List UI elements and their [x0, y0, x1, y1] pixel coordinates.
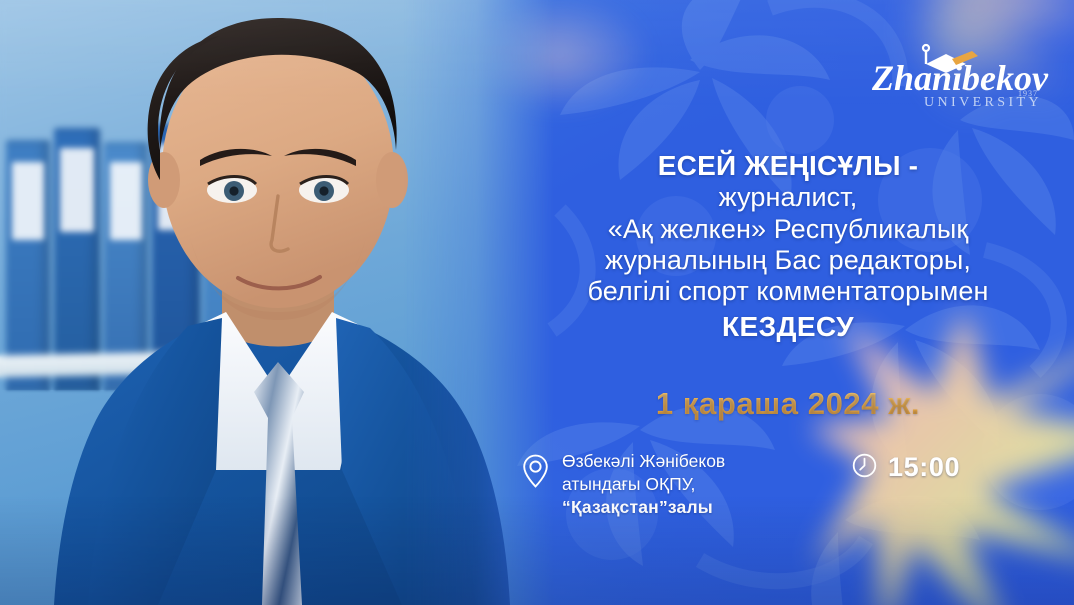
event-poster: Zhanibekov UNIVERSITY 1937 ЕСЕЙ ЖЕҢІСҰЛЫ…: [0, 0, 1074, 605]
poster-vignette: [0, 0, 1074, 605]
